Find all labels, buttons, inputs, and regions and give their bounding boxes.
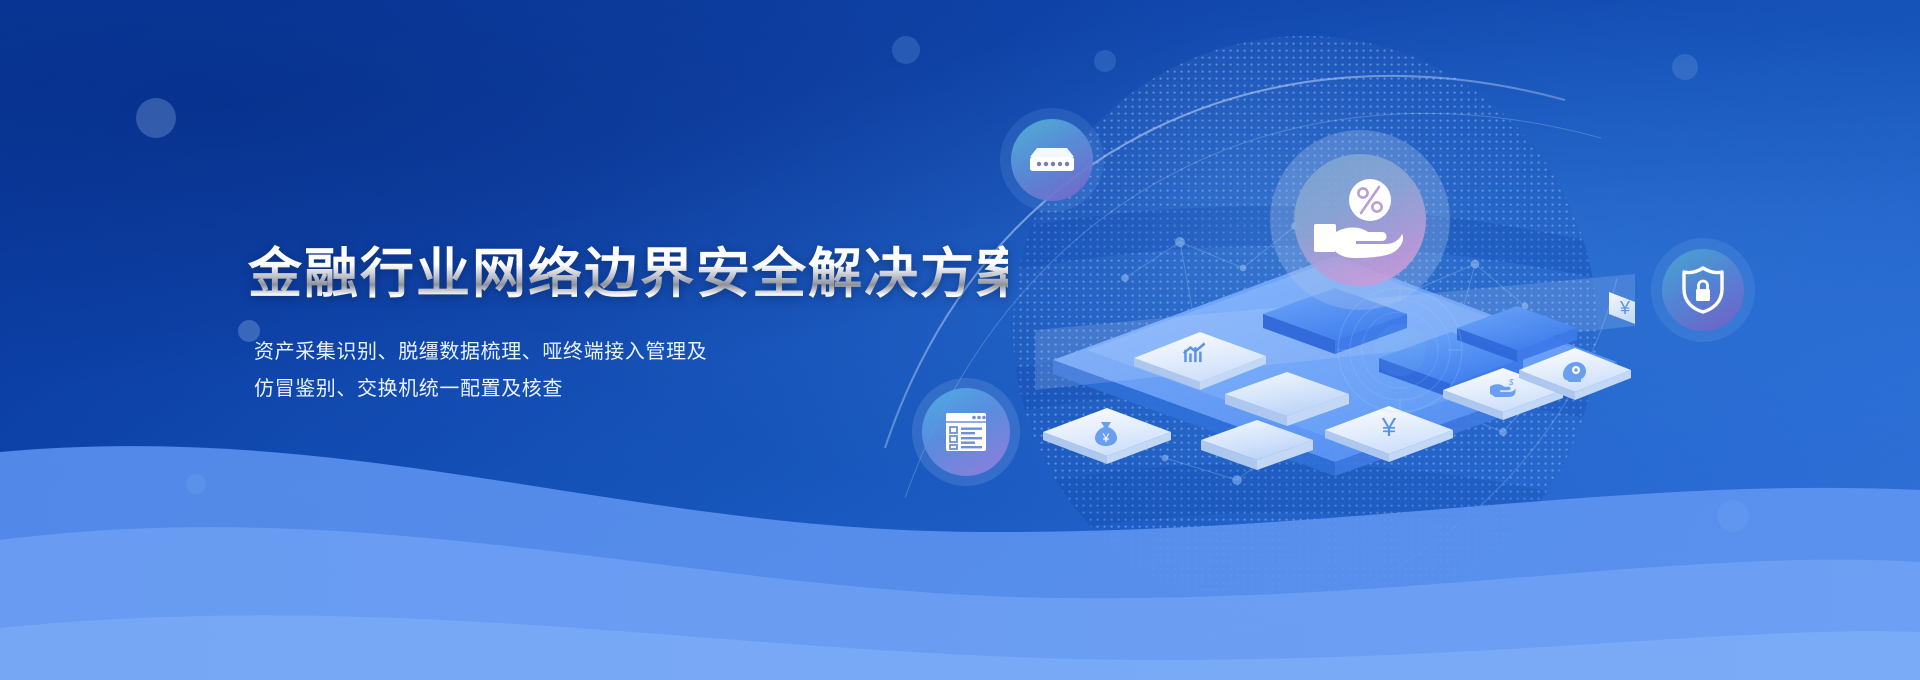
hand-holding-percent-coin-icon	[1306, 174, 1414, 266]
bubble-router-switch[interactable]	[1000, 108, 1104, 212]
banner-subtitle: 资产采集识别、脱缰数据梳理、哑终端接入管理及 仿冒鉴别、交换机统一配置及核查	[254, 334, 1008, 408]
bubble-shield-lock[interactable]	[1651, 238, 1755, 342]
subtitle-line-1: 资产采集识别、脱缰数据梳理、哑终端接入管理及	[254, 334, 1008, 371]
router-switch-icon	[1025, 143, 1079, 177]
banner-stage: ¥ ¥ $	[0, 0, 1920, 680]
page-title: 金融行业网络边界安全解决方案	[248, 244, 1008, 304]
bokeh-dot	[136, 98, 176, 138]
bubble-hand-percent[interactable]	[1270, 130, 1450, 310]
shield-lock-icon	[1680, 265, 1726, 315]
banner-copy-block: 金融行业网络边界安全解决方案 资产采集识别、脱缰数据梳理、哑终端接入管理及 仿冒…	[248, 244, 1008, 408]
bokeh-dot	[1094, 50, 1116, 72]
bokeh-dot	[1672, 54, 1698, 80]
subtitle-line-2: 仿冒鉴别、交换机统一配置及核查	[254, 371, 1008, 408]
document-list-icon	[942, 408, 990, 456]
bokeh-dot	[892, 36, 920, 64]
svg-text:¥: ¥	[1619, 298, 1631, 318]
